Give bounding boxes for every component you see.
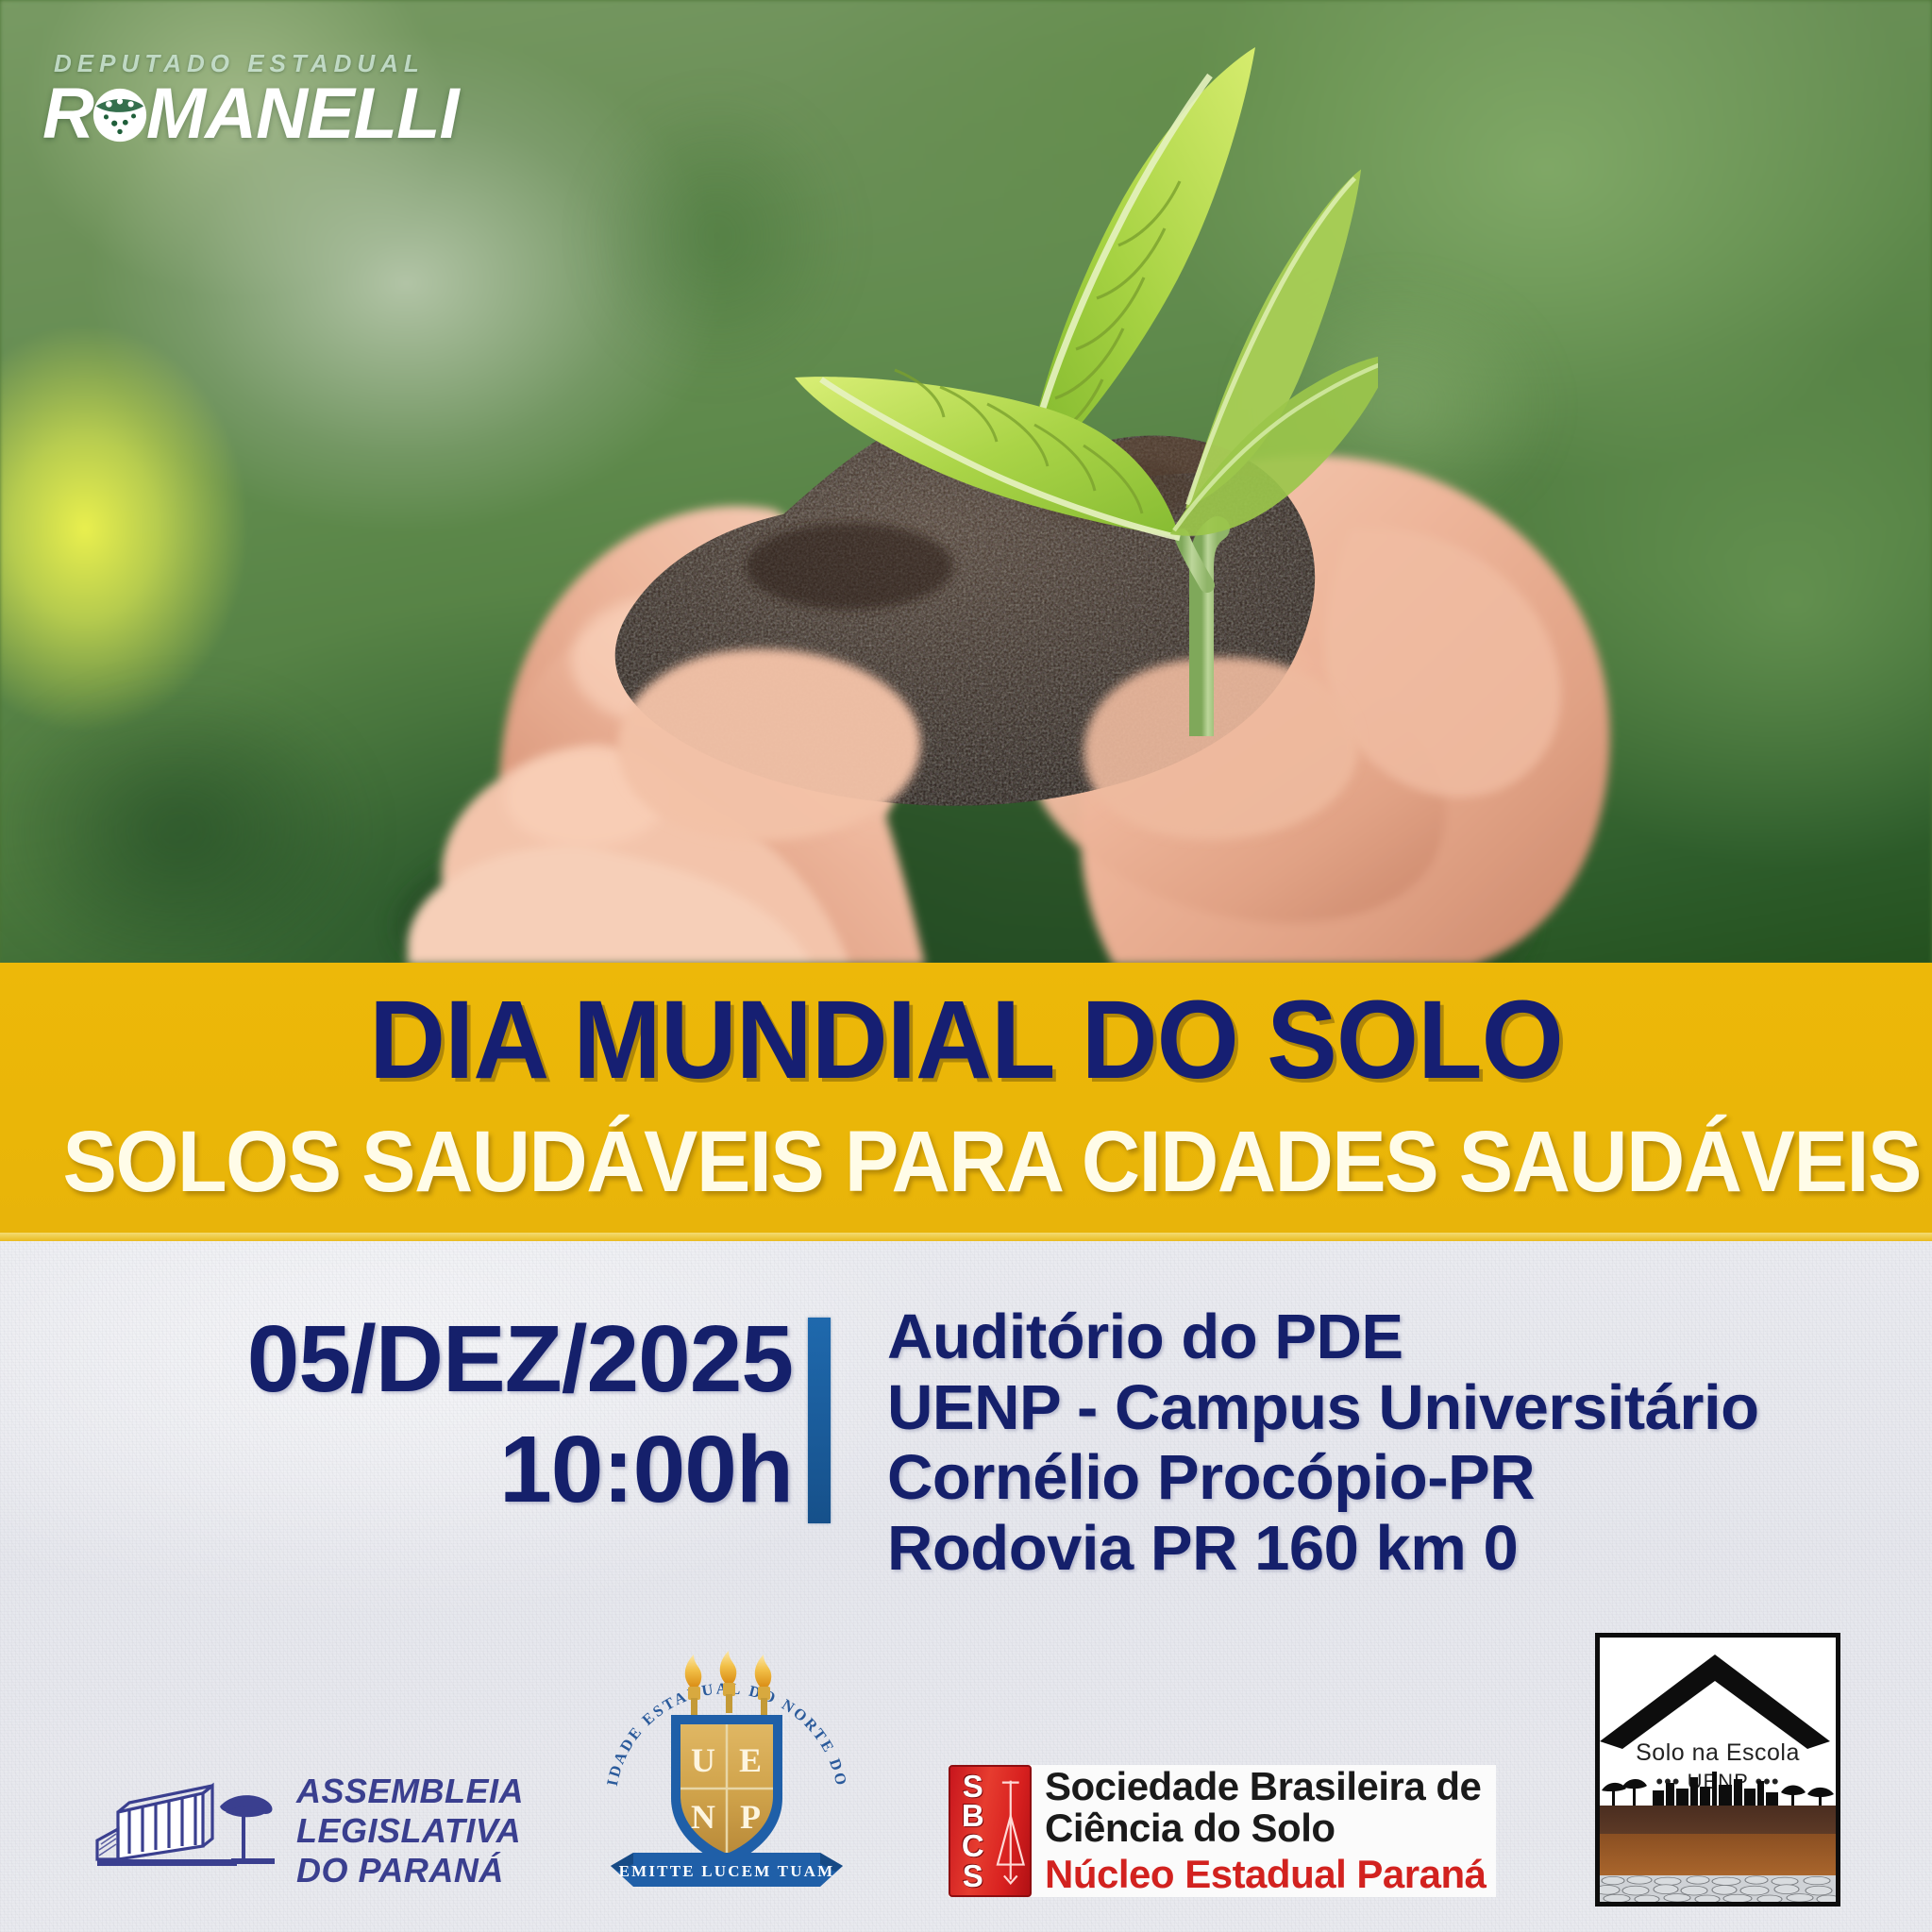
- sponsor-logos: ASSEMBLEIA LEGISLATIVA DO PARANÁ: [0, 1604, 1932, 1932]
- solo-na-escola-inner: Solo na Escola ••• UENP •••: [1600, 1638, 1836, 1902]
- romanelli-logo: DEPUTADO ESTADUAL R MANELLI: [42, 49, 477, 162]
- event-date: 05/DEZ/2025: [57, 1304, 793, 1415]
- uenp-letter-e: E: [739, 1741, 762, 1779]
- venue-line-1: Auditório do PDE: [887, 1302, 1907, 1373]
- uenp-logo: UNIVERSIDADE ESTADUAL DO NORTE DO PARANÁ: [590, 1628, 864, 1911]
- alep-logo: ASSEMBLEIA LEGISLATIVA DO PARANÁ: [90, 1770, 543, 1892]
- alep-wordmark: ASSEMBLEIA LEGISLATIVA DO PARANÁ: [296, 1772, 524, 1890]
- venue-line-4: Rodovia PR 160 km 0: [887, 1514, 1907, 1585]
- stone-pattern-icon: [1600, 1875, 1836, 1902]
- alep-line-1: ASSEMBLEIA: [296, 1772, 524, 1811]
- event-time: 10:00h: [57, 1415, 793, 1525]
- alep-line-3: DO PARANÁ: [296, 1851, 524, 1890]
- seedling-illustration: [661, 19, 1378, 736]
- uenp-letter-u: U: [691, 1741, 715, 1779]
- sbcs-line-3: Núcleo Estadual Paraná: [1045, 1852, 1487, 1896]
- uenp-letter-p: P: [740, 1798, 761, 1836]
- soil-horizon-a: [1600, 1806, 1836, 1834]
- brand-name-part1: R: [42, 78, 93, 150]
- uenp-letter-n: N: [691, 1798, 715, 1836]
- brand-name: R MANELLI: [42, 78, 477, 150]
- event-info: 05/DEZ/2025 10:00h Auditório do PDE UENP…: [0, 1304, 1932, 1550]
- poster-root: DEPUTADO ESTADUAL R MANELLI: [0, 0, 1932, 1932]
- sbcs-letter-1: S: [953, 1772, 992, 1802]
- vertical-divider: [808, 1318, 831, 1523]
- city-skyline-icon: [1600, 1762, 1836, 1807]
- bedrock-layer: [1600, 1875, 1836, 1902]
- alep-line-2: LEGISLATIVA: [296, 1811, 524, 1851]
- page-subtitle: SOLOS SAUDÁVEIS PARA CIDADES SAUDÁVEIS: [63, 1118, 1870, 1205]
- sbcs-line-1: Sociedade Brasileira de: [1045, 1766, 1487, 1808]
- page-title: DIA MUNDIAL DO SOLO: [48, 984, 1884, 1096]
- event-when: 05/DEZ/2025 10:00h: [57, 1304, 793, 1525]
- roof-chevron-icon: [1600, 1647, 1834, 1751]
- soil-horizon-b: [1600, 1834, 1836, 1875]
- solo-na-escola-logo: Solo na Escola ••• UENP •••: [1595, 1633, 1840, 1907]
- sbcs-wordmark: Sociedade Brasileira de Ciência do Solo …: [1032, 1765, 1487, 1897]
- sbcs-line-2: Ciência do Solo: [1045, 1807, 1487, 1850]
- sbcs-letter-4: S: [953, 1861, 992, 1891]
- sbcs-logo: S B C S Sociedade Brasileira de: [949, 1765, 1496, 1897]
- venue-line-2: UENP - Campus Universitário: [887, 1373, 1907, 1444]
- sbcs-letters: S B C S: [953, 1772, 992, 1891]
- building-araucaria-icon: [90, 1780, 283, 1882]
- band-bottom-edge: [0, 1233, 1932, 1241]
- sbcs-letter-2: B: [953, 1801, 992, 1831]
- venue-line-3: Cornélio Procópio-PR: [887, 1443, 1907, 1514]
- sbcs-letter-3: C: [953, 1831, 992, 1861]
- sbcs-badge: S B C S: [949, 1765, 1032, 1897]
- event-venue: Auditório do PDE UENP - Campus Universit…: [887, 1302, 1907, 1585]
- uenp-motto: EMITTE LUCEM TUAM: [619, 1862, 835, 1880]
- soil-auger-icon: [992, 1774, 1030, 1888]
- soccer-globe-icon: [91, 85, 149, 143]
- brand-name-part2: MANELLI: [146, 78, 459, 150]
